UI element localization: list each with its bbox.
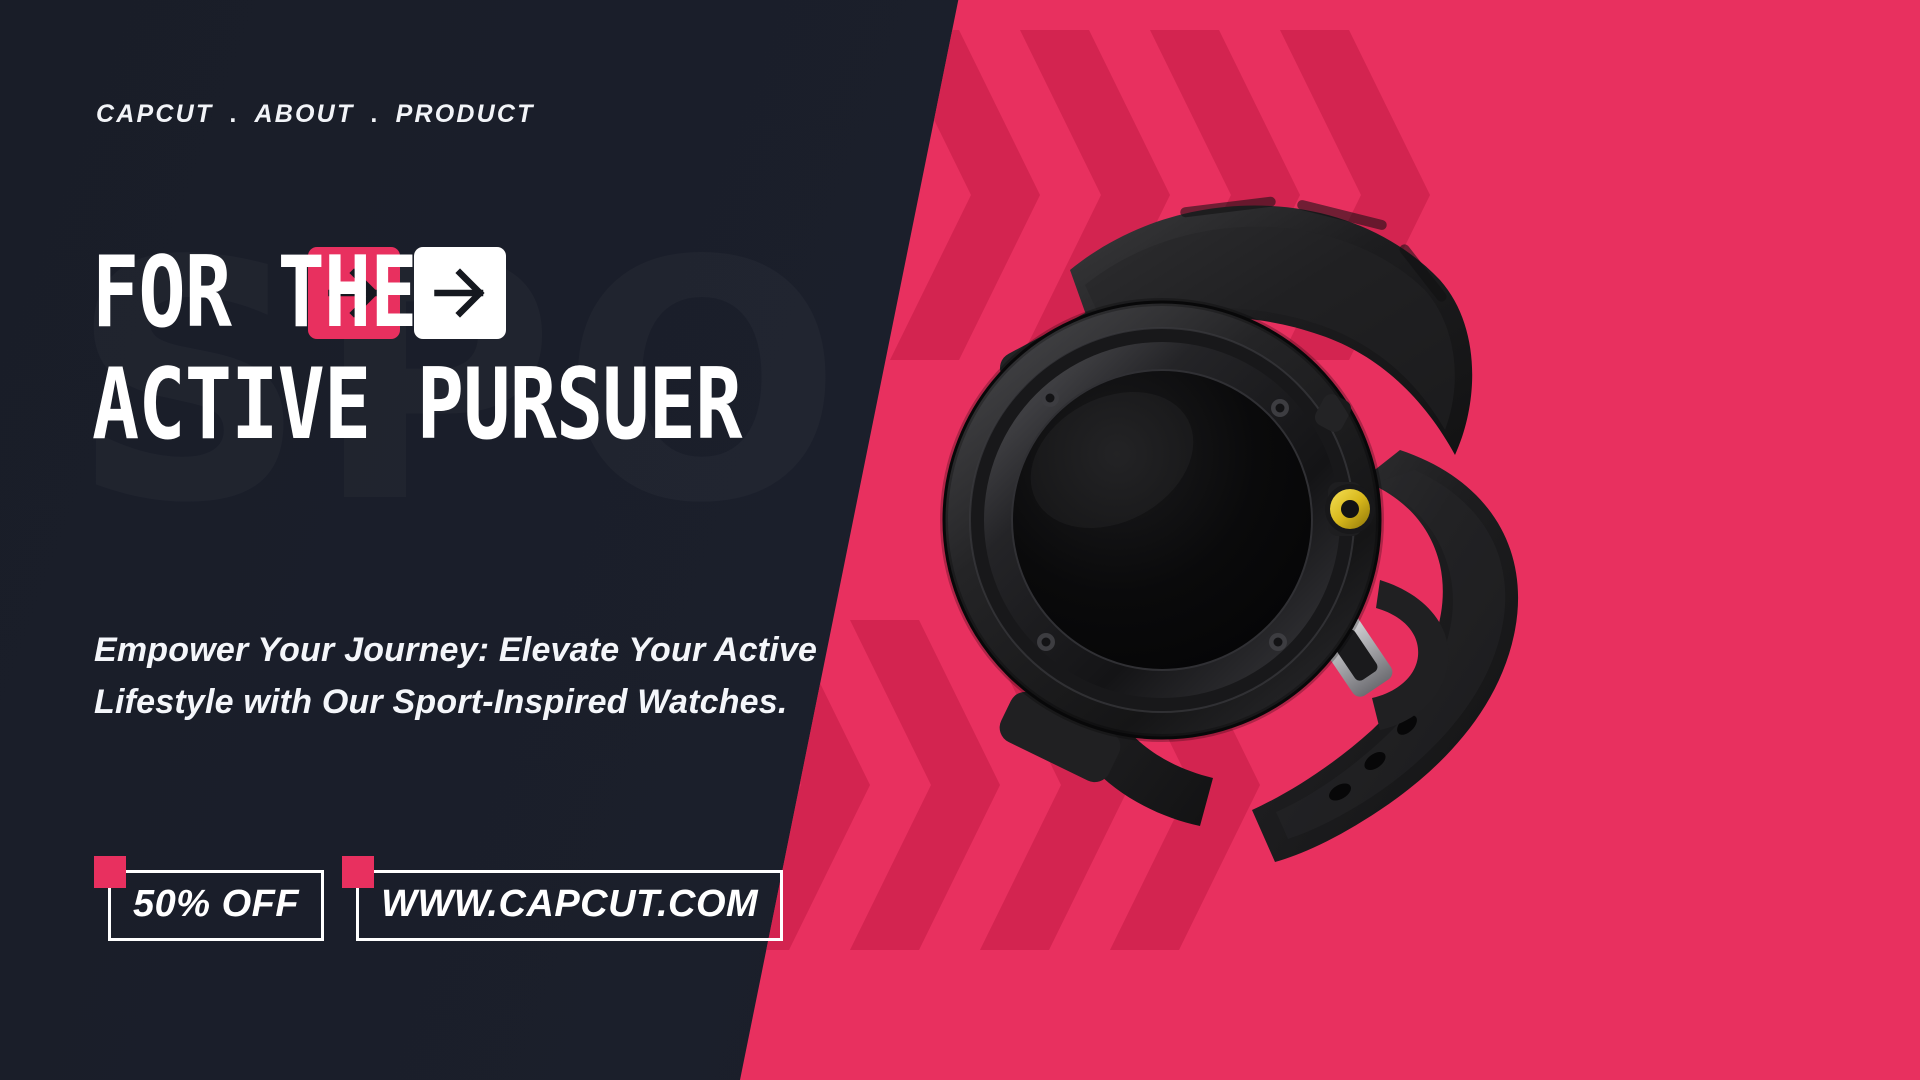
website-label: WWW.CAPCUT.COM (381, 883, 758, 926)
headline-block: FOR THE ACTIV (92, 245, 892, 453)
nav-separator: . (229, 100, 238, 129)
banner-stage: SPO (0, 0, 1920, 1080)
arrow-right-white-button[interactable] (414, 247, 506, 339)
discount-box[interactable]: 50% OFF (108, 870, 324, 941)
nav-item-about[interactable]: ABOUT (255, 100, 355, 129)
subtitle-block: Empower Your Journey: Elevate Your Activ… (94, 625, 834, 728)
discount-badge[interactable]: 50% OFF (94, 856, 324, 941)
cta-row: 50% OFF WWW.CAPCUT.COM (94, 856, 783, 941)
discount-label: 50% OFF (133, 883, 299, 926)
headline-line-2: ACTIVE PURSUER (92, 357, 732, 453)
nav-item-product[interactable]: PRODUCT (396, 100, 535, 129)
subtitle-line-1: Empower Your Journey: Elevate Your Activ… (94, 625, 834, 677)
subtitle-line-2: Lifestyle with Our Sport-Inspired Watche… (94, 677, 834, 729)
headline-row-1: FOR THE (92, 245, 892, 341)
banner-content: CAPCUT . ABOUT . PRODUCT FOR THE (0, 0, 900, 1080)
top-navigation: CAPCUT . ABOUT . PRODUCT (96, 100, 535, 129)
website-badge[interactable]: WWW.CAPCUT.COM (342, 856, 783, 941)
product-image-smartwatch (880, 150, 1580, 910)
website-box[interactable]: WWW.CAPCUT.COM (356, 870, 783, 941)
accent-square (342, 856, 374, 888)
headline-line-1: FOR THE (92, 245, 417, 341)
nav-separator: . (370, 100, 379, 129)
accent-square (94, 856, 126, 888)
nav-item-capcut[interactable]: CAPCUT (96, 100, 213, 129)
arrow-right-icon (430, 263, 490, 323)
